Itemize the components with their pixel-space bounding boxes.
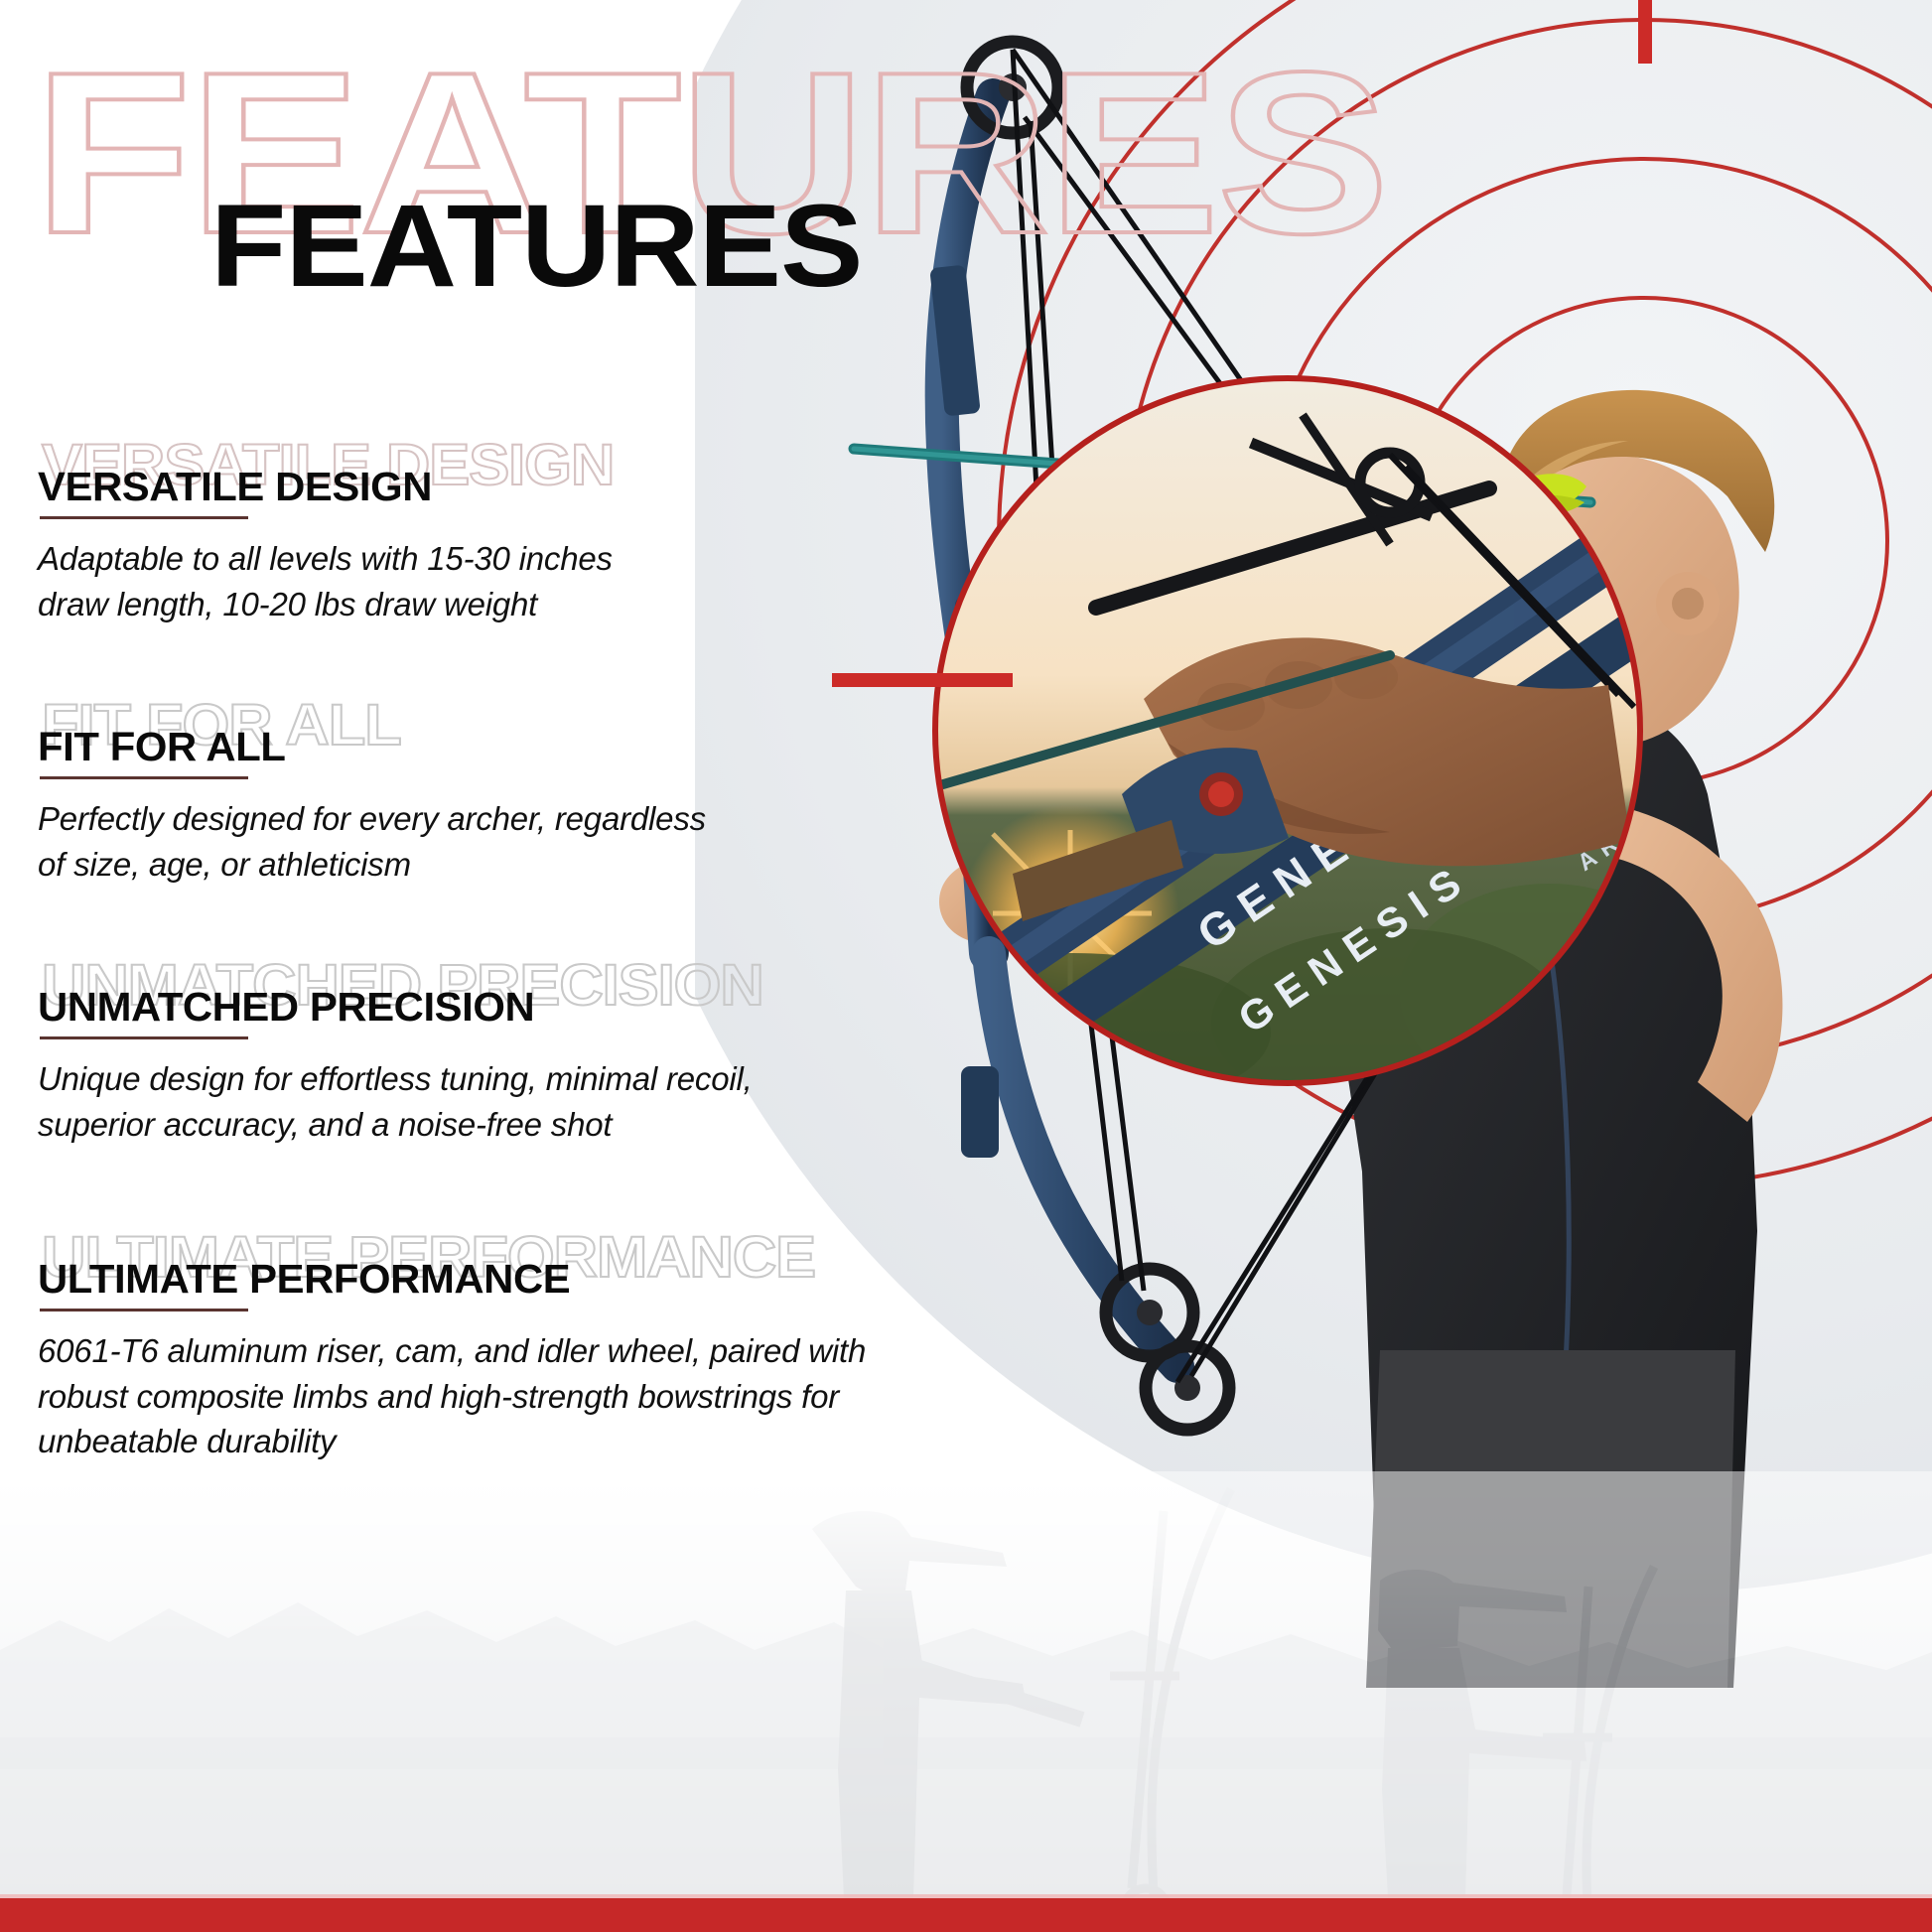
feature-heading: UNMATCHED PRECISION	[38, 957, 910, 1031]
footer-bar	[0, 1898, 1932, 1932]
feature-underline	[40, 1309, 248, 1311]
feature-body: Perfectly designed for every archer, reg…	[38, 796, 733, 887]
feature-underline	[40, 1036, 248, 1039]
crosshair-tick-vertical	[1638, 0, 1652, 64]
feature-item-unmatched-precision: UNMATCHED PRECISION UNMATCHED PRECISION …	[0, 957, 894, 1217]
feature-body: Unique design for effortless tuning, min…	[38, 1056, 792, 1147]
feature-body: 6061-T6 aluminum riser, cam, and idler w…	[38, 1328, 872, 1464]
page-title: FEATURES	[210, 179, 862, 314]
infographic-canvas: GENESIS GENESIS ARCHERY	[0, 0, 1932, 1932]
feature-item-fit-for-all: FIT FOR ALL FIT FOR ALL Perfectly design…	[0, 697, 894, 945]
feature-list: VERSATILE DESIGN VERSATILE DESIGN Adapta…	[0, 437, 894, 1476]
feature-underline	[40, 516, 248, 519]
feature-heading: ULTIMATE PERFORMANCE	[38, 1229, 910, 1303]
archers-watermark	[0, 1471, 1932, 1898]
feature-heading: VERSATILE DESIGN	[38, 437, 910, 510]
feature-body: Adaptable to all levels with 15-30 inche…	[38, 536, 633, 626]
feature-item-versatile-design: VERSATILE DESIGN VERSATILE DESIGN Adapta…	[0, 437, 894, 685]
feature-item-ultimate-performance: ULTIMATE PERFORMANCE ULTIMATE PERFORMANC…	[0, 1229, 894, 1464]
feature-heading: FIT FOR ALL	[38, 697, 910, 770]
feature-underline	[40, 776, 248, 779]
